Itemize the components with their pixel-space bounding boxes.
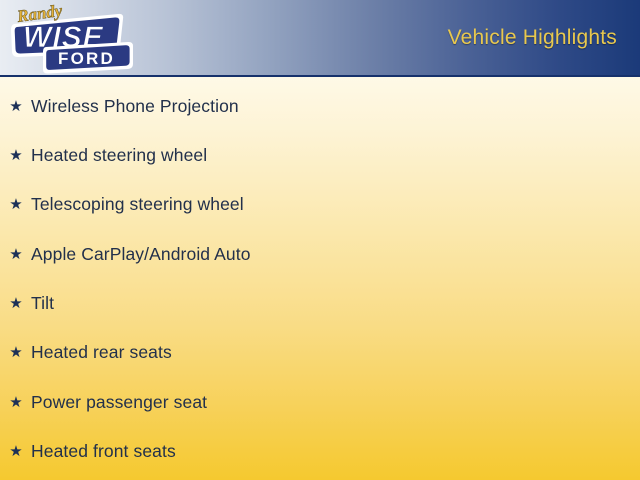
highlight-label: Heated steering wheel — [31, 145, 207, 166]
vehicle-highlights-list: ★ Wireless Phone Projection ★ Heated ste… — [0, 77, 640, 480]
star-icon: ★ — [8, 444, 24, 459]
list-item: ★ Heated rear seats — [8, 339, 172, 365]
highlight-label: Heated rear seats — [31, 342, 172, 363]
highlight-label: Apple CarPlay/Android Auto — [31, 244, 251, 265]
highlight-label: Wireless Phone Projection — [31, 96, 239, 117]
star-icon: ★ — [8, 148, 24, 163]
list-item: ★ Telescoping steering wheel — [8, 191, 244, 217]
highlight-label: Power passenger seat — [31, 392, 207, 413]
vehicle-highlights-slide: WISE FORD Randy Vehicle Highlights ★ Wir… — [0, 0, 640, 480]
star-icon: ★ — [8, 247, 24, 262]
list-item: ★ Heated steering wheel — [8, 142, 207, 168]
star-icon: ★ — [8, 395, 24, 410]
highlight-label: Telescoping steering wheel — [31, 194, 244, 215]
star-icon: ★ — [8, 296, 24, 311]
page-title: Vehicle Highlights — [448, 0, 617, 75]
star-icon: ★ — [8, 99, 24, 114]
list-item: ★ Heated front seats — [8, 438, 176, 464]
slide-header: WISE FORD Randy Vehicle Highlights — [0, 0, 640, 77]
list-item: ★ Power passenger seat — [8, 389, 207, 415]
dealer-logo[interactable]: WISE FORD Randy — [6, 2, 138, 76]
list-item: ★ Wireless Phone Projection — [8, 93, 239, 119]
star-icon: ★ — [8, 197, 24, 212]
svg-text:FORD: FORD — [58, 49, 115, 68]
highlight-label: Heated front seats — [31, 441, 176, 462]
list-item: ★ Apple CarPlay/Android Auto — [8, 241, 251, 267]
star-icon: ★ — [8, 345, 24, 360]
list-item: ★ Tilt — [8, 290, 54, 316]
highlight-label: Tilt — [31, 293, 54, 314]
